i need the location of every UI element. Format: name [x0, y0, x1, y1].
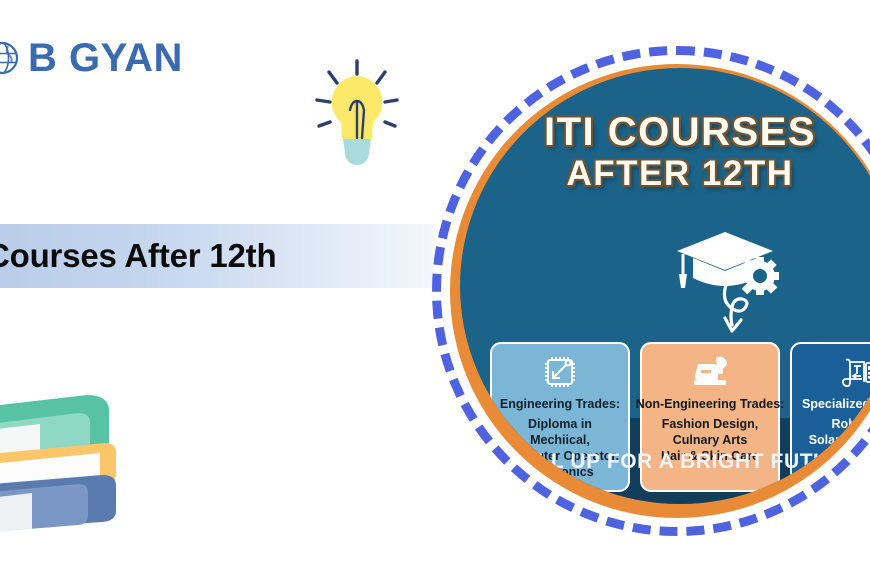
poster-canvas: B GYAN Courses After 12th: [0, 0, 870, 570]
microchip-icon: [538, 352, 582, 392]
sewing-machine-icon: [688, 352, 732, 392]
site-logo-text: B GYAN: [28, 38, 183, 78]
lightbulb-icon: [305, 50, 410, 175]
page-title: Courses After 12th: [0, 237, 276, 275]
card-heading: Engineering Trades:: [500, 397, 620, 411]
globe-icon: [0, 38, 22, 78]
card-line: Mechiical,: [501, 432, 619, 448]
graduation-cap-gear-icon: [667, 218, 787, 338]
badge-tagline: SKILL UP FOR A BRIGHT FUTURE: [460, 450, 870, 474]
book-stack-icon: [0, 385, 157, 535]
iti-courses-badge: ITI COURSES AFTER 12TH: [432, 46, 870, 536]
card-line: Solar Technician,: [809, 432, 870, 448]
site-logo[interactable]: B GYAN: [0, 38, 183, 78]
headline-banner: Courses After 12th: [0, 224, 435, 288]
card-line: Robotics,: [809, 416, 870, 432]
blueprint-calculator-icon: [838, 352, 870, 392]
badge-title-line2: AFTER 12TH: [460, 153, 870, 194]
card-line: Culnary Arts: [661, 432, 759, 448]
card-heading: Specialized Trades:: [802, 397, 870, 411]
badge-core: ITI COURSES AFTER 12TH: [460, 68, 870, 504]
card-line: Fashion Design,: [661, 416, 759, 432]
card-heading: Non-Engineering Trades:: [636, 397, 785, 411]
card-line: Diploma in: [501, 416, 619, 432]
